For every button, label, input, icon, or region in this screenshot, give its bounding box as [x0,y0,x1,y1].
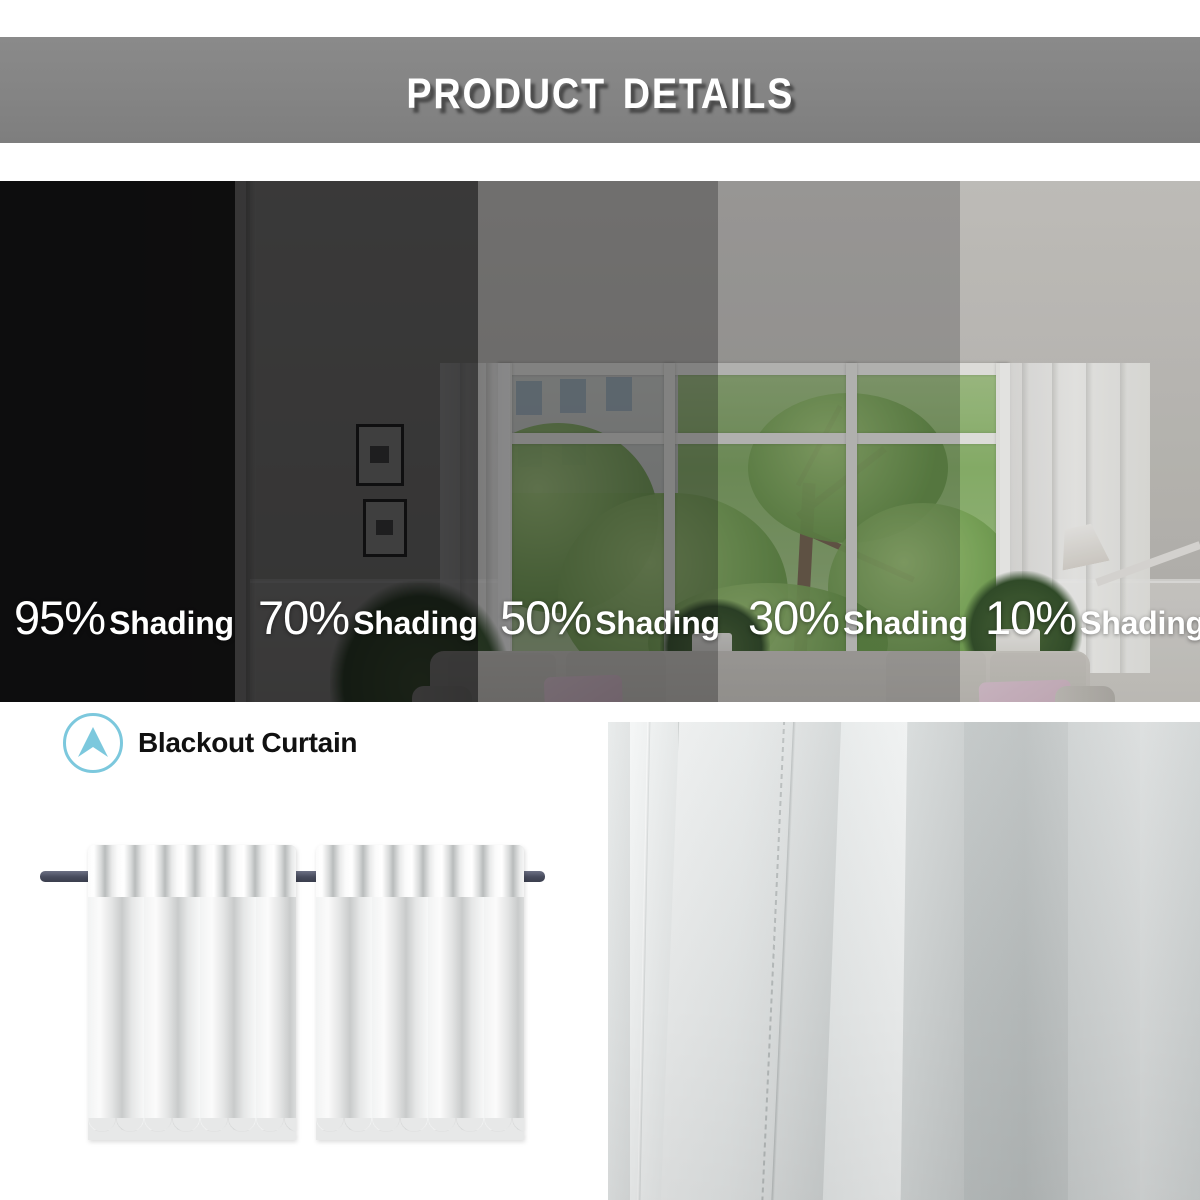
curtain-pair-illustration [30,835,560,1135]
fabric-fold [1140,722,1200,1200]
fabric-fold [964,722,1074,1200]
page-title: Product Details [406,57,794,123]
fabric-fold [901,722,974,1200]
shading-label-95: 95%Shading [14,594,234,641]
fabric-fold [1068,722,1146,1200]
shading-label-30: 30%Shading [748,594,968,641]
shading-percent: 30% [748,591,839,644]
shading-percent: 50% [500,591,591,644]
shading-word: Shading [109,605,234,641]
shading-label-10: 10%Shading [985,594,1200,641]
fabric-closeup-photo [608,722,1200,1200]
shading-comparison-photo: 95%Shading 70%Shading 50%Shading 30%Shad… [0,181,1200,702]
header-banner: Product Details [0,37,1200,143]
shading-word: Shading [1080,605,1200,641]
curtain-panel-right [316,845,524,1130]
shading-word: Shading [353,605,478,641]
curtain-panel-left [88,845,296,1130]
shading-percent: 95% [14,591,105,644]
shading-word: Shading [595,605,720,641]
blackout-curtain-label: Blackout Curtain [138,727,357,759]
up-arrow-circle-icon [63,713,123,773]
shading-word: Shading [843,605,968,641]
shading-label-50: 50%Shading [500,594,720,641]
shading-percent: 10% [985,591,1076,644]
shading-percent: 70% [258,591,349,644]
shading-label-70: 70%Shading [258,594,478,641]
blackout-curtain-feature: Blackout Curtain [63,713,357,773]
